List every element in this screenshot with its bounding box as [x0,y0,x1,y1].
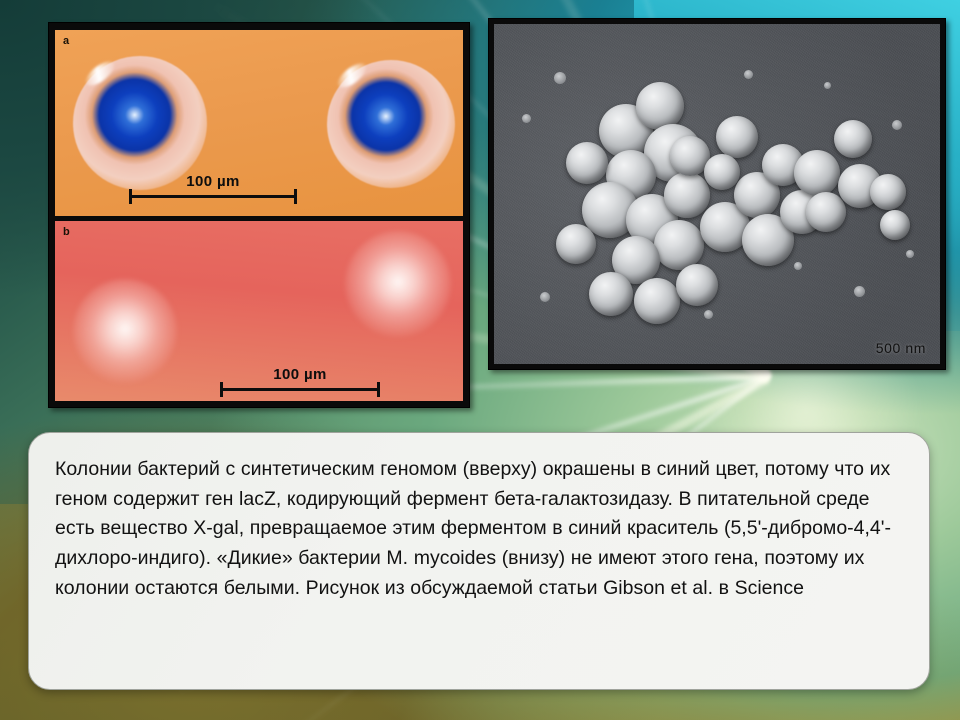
sem-debris [854,286,865,297]
sem-cell [636,82,684,130]
sem-image: 500 nm [494,24,940,364]
sem-debris [794,262,802,270]
sem-cell [556,224,596,264]
scale-bar-label: 100 µm [220,366,380,383]
scale-bar-cap-left [220,382,223,397]
sem-scale-bar-label: 500 nm [876,340,926,356]
colony-plate-a: a 100 µm [55,30,463,216]
sem-cell [870,174,906,210]
scale-bar-cap-right [294,189,297,204]
sem-debris [540,292,550,302]
scale-bar-panel-a: 100 µm [129,173,297,198]
white-colony [345,231,451,337]
scale-bar-line [129,195,297,198]
sem-cell [664,172,710,218]
scale-bar-panel-b: 100 µm [220,366,380,391]
caption-card: Колонии бактерий с синтетическим геномом… [28,432,930,690]
sem-debris [906,250,914,258]
sem-micrograph-panel: 500 nm [488,18,946,370]
sem-debris [704,310,713,319]
panel-label-a: a [63,35,69,47]
scale-bar-cap-left [129,189,132,204]
sem-cell [654,220,704,270]
colony-photo-panel: a 100 µm b 100 µm [48,22,470,408]
sem-cell [794,150,840,196]
sem-debris [554,72,566,84]
scale-bar-line [220,388,380,391]
panel-label-b: b [63,226,70,238]
sem-cell [834,120,872,158]
sem-cell [566,142,608,184]
sem-cell [676,264,718,306]
presentation-slide: a 100 µm b 100 µm [0,0,960,720]
scale-bar-label: 100 µm [129,173,297,190]
sem-cell [880,210,910,240]
sem-cell [704,154,740,190]
scale-bar-cap-right [377,382,380,397]
sem-cell [589,272,633,316]
sem-debris [824,82,831,89]
caption-text: Колонии бактерий с синтетическим геномом… [55,455,903,603]
sem-debris [744,70,753,79]
sem-cell [716,116,758,158]
sem-debris [892,120,902,130]
sem-debris [522,114,531,123]
white-colony [73,279,177,383]
sem-cell [634,278,680,324]
sem-cell [806,192,846,232]
colony-plate-b: b 100 µm [55,221,463,401]
